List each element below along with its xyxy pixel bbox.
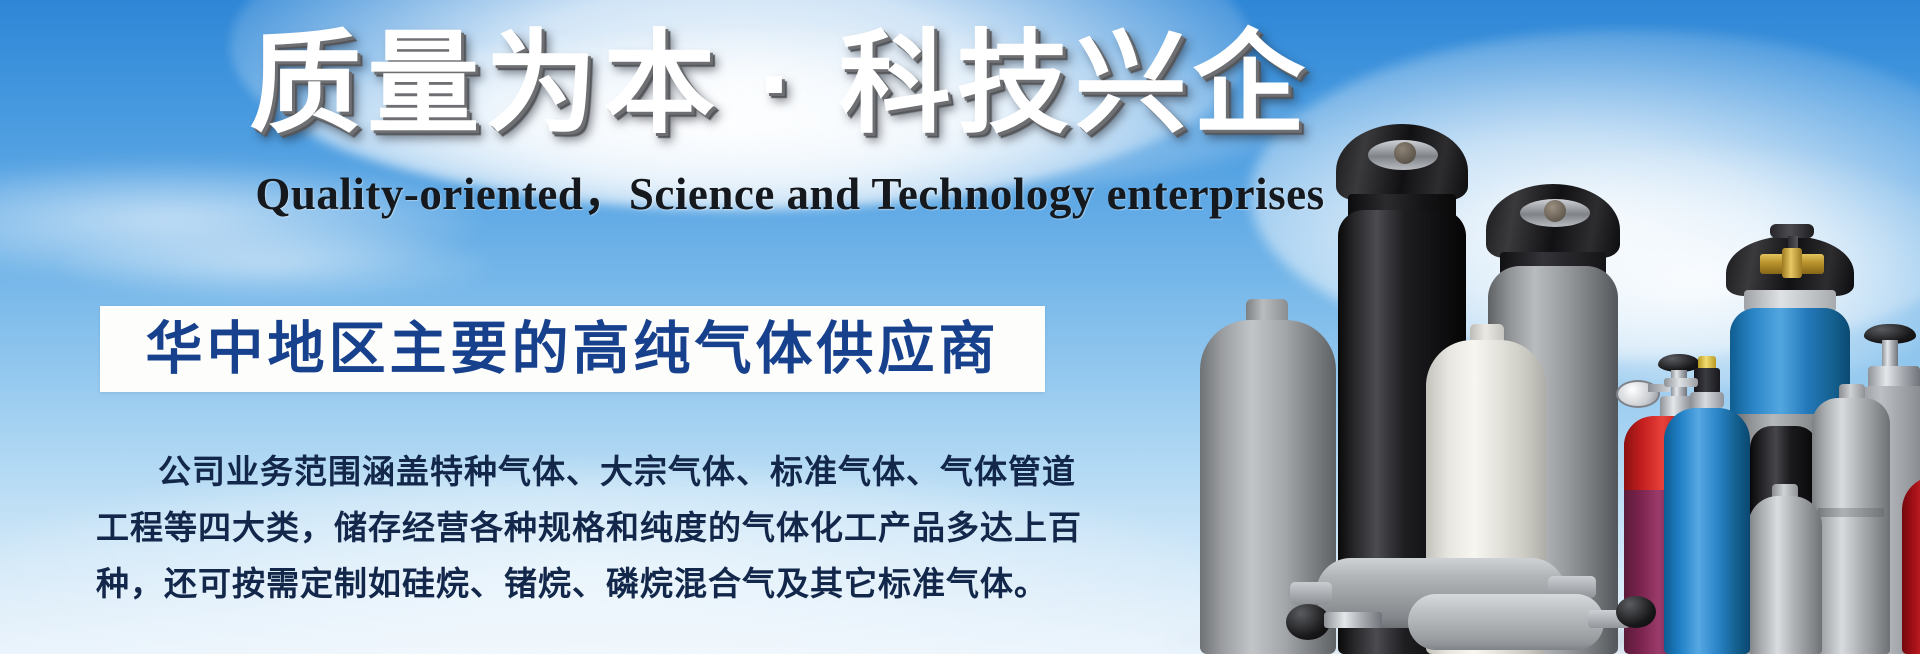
promotional-banner: 质量为本 · 科技兴企 Quality-oriented，Science and… (0, 0, 1920, 654)
red-cylinder (1902, 464, 1920, 654)
blue-cylinder (1664, 392, 1750, 654)
valve-knob-icon (1616, 596, 1656, 628)
gas-cylinder-group-image (1140, 0, 1920, 654)
description-line-1: 公司业务范围涵盖特种气体、大宗气体、标准气体、气体管道 (96, 445, 1056, 501)
cloud-left-wisp2-icon (60, 230, 490, 300)
horizontal-tank-small (1388, 590, 1628, 652)
banner-description: 公司业务范围涵盖特种气体、大宗气体、标准气体、气体管道 工程等四大类，储存经营各… (96, 445, 1056, 613)
description-line-3: 种，还可按需定制如硅烷、锗烷、磷烷混合气及其它标准气体。 (96, 557, 1056, 613)
aluminium-cylinder-tall (1812, 384, 1890, 654)
aluminium-cylinder-small (1748, 484, 1822, 654)
slogan-box: 华中地区主要的高纯气体供应商 (100, 306, 1045, 392)
slogan-text: 华中地区主要的高纯气体供应商 (146, 319, 1000, 379)
description-line-2: 工程等四大类，储存经营各种规格和纯度的气体化工产品多达上百 (96, 501, 1056, 557)
